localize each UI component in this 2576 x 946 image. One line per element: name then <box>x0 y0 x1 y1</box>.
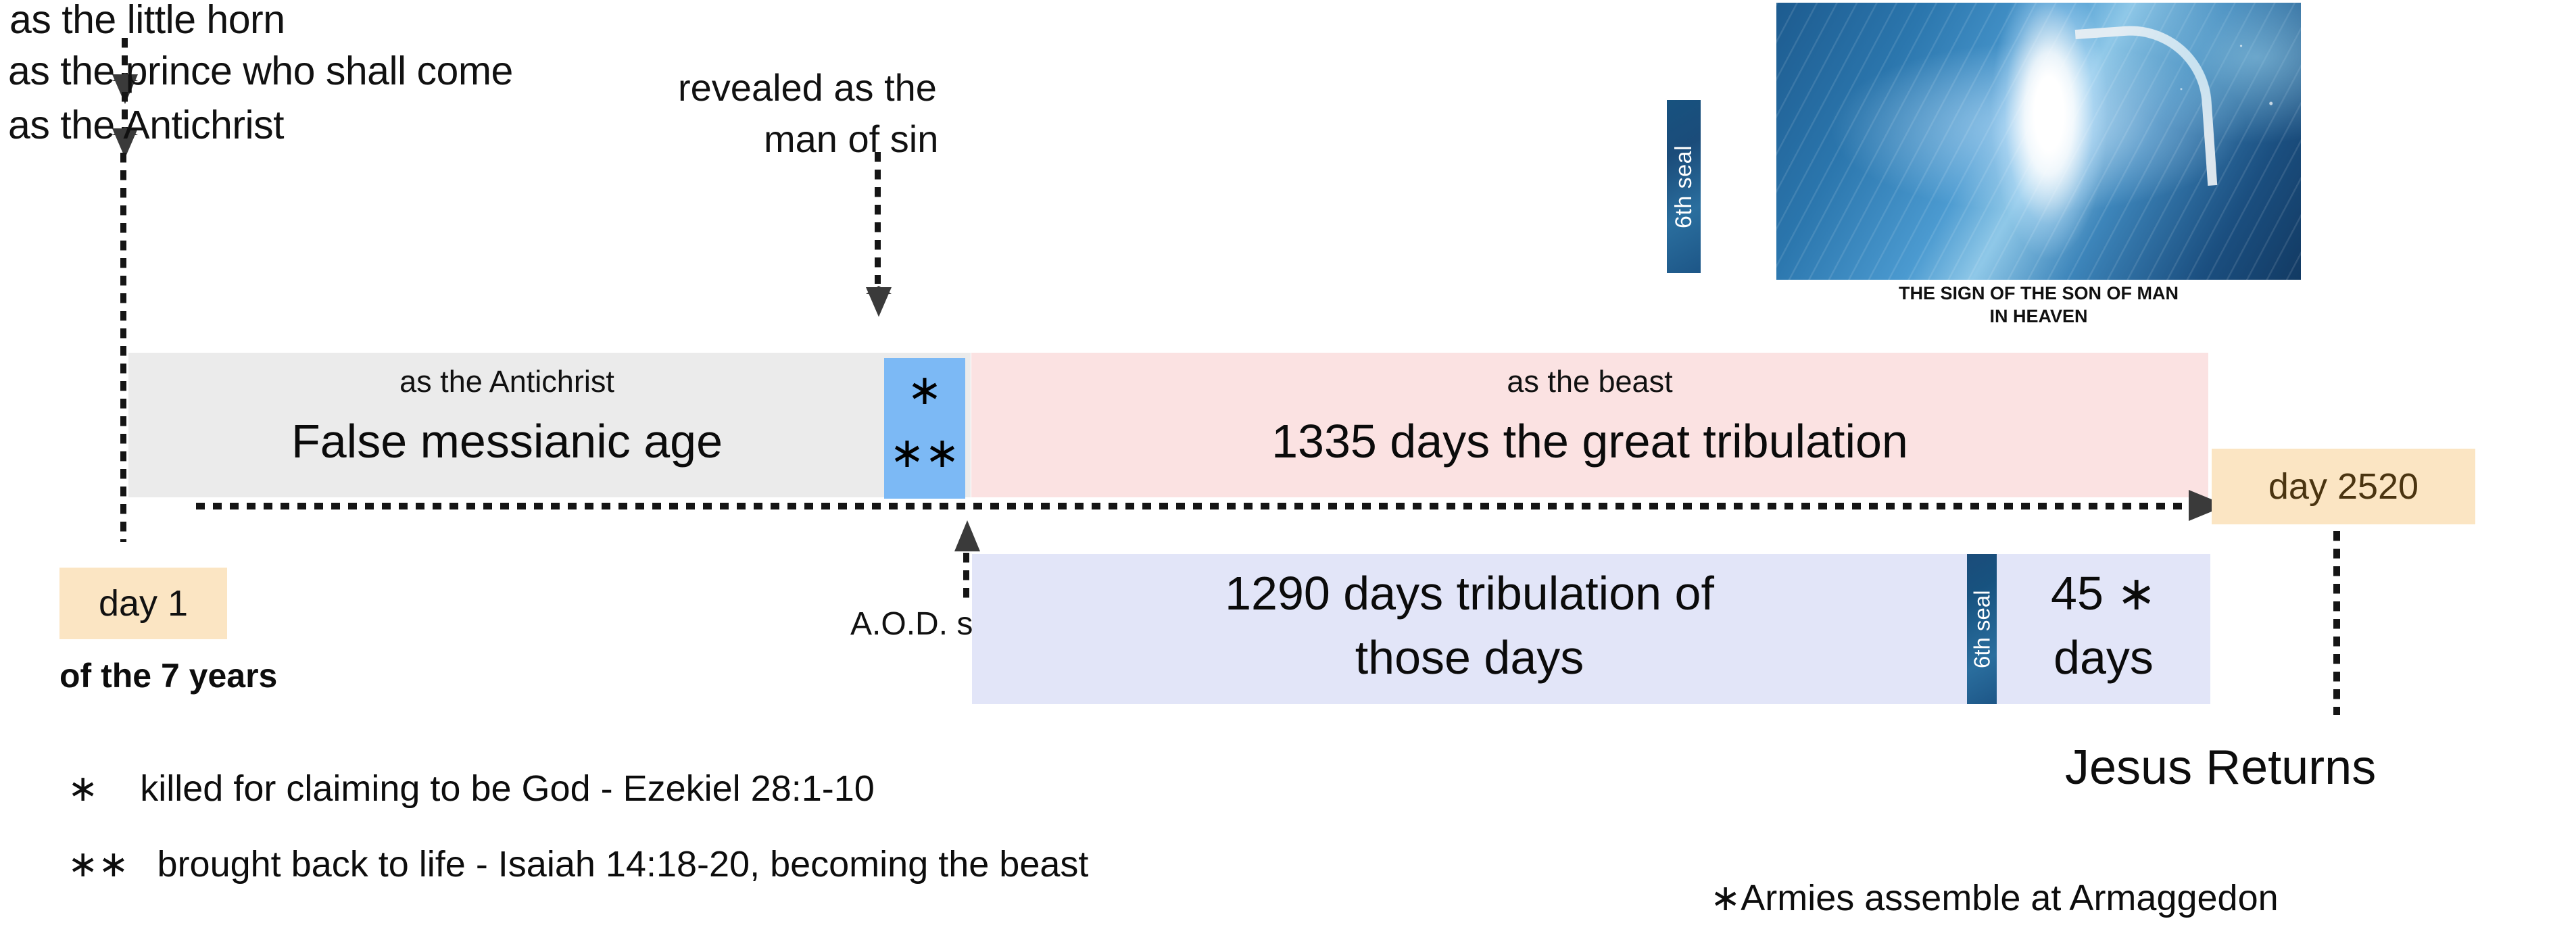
armageddon-note: ∗Armies assemble at Armaggedon <box>1710 880 2279 916</box>
revealed-annotation-line1: revealed as the <box>678 69 937 107</box>
footnote-1: ∗ killed for claiming to be God - Ezekie… <box>68 770 875 807</box>
cascade-label-little-horn: as the little horn <box>9 0 285 40</box>
segment-mainlabel-great-tribulation: 1335 days the great tribulation <box>971 418 2208 465</box>
revealed-annotation-line2: man of sin <box>764 120 938 158</box>
timeline-axis-dotted <box>196 503 2198 509</box>
segment-toplabel-beast: as the beast <box>971 366 2208 397</box>
cascade-label-prince: as the prince who shall come <box>8 51 513 91</box>
footnote-2-text: brought back to life - Isaiah 14:18-20, … <box>157 844 1089 885</box>
seal-image-caption-line1: THE SIGN OF THE SON OF MAN <box>1776 282 2301 305</box>
day-2520-badge[interactable]: day 2520 <box>2212 449 2475 524</box>
day-1-badge[interactable]: day 1 <box>59 568 227 639</box>
jesus-returns-label: Jesus Returns <box>2065 743 2376 792</box>
footnote-2-mark: ∗∗ <box>68 844 129 885</box>
sign-of-son-of-man-image <box>1776 3 2301 280</box>
start-vertical-guide <box>120 153 126 542</box>
revealed-connector <box>875 152 881 284</box>
segment-mainlabel-1290-line1: 1290 days tribulation of <box>972 570 1967 617</box>
sickle-glyph-icon <box>2075 20 2218 194</box>
segment-mainlabel-1290-line2: those days <box>972 634 1967 681</box>
sixth-seal-marker-label: 6th seal <box>1967 554 1997 704</box>
seal-image-tab-label: 6th seal <box>1667 100 1701 273</box>
seal-image-caption-line2: IN HEAVEN <box>1776 305 2301 328</box>
cascade-label-antichrist: as the Antichrist <box>8 105 284 145</box>
of-the-7-years-label: of the 7 years <box>59 659 277 693</box>
segment-mark-resurrected: ∗∗ <box>884 432 965 474</box>
segment-mark-killed: ∗ <box>884 370 965 412</box>
aod-arrow-icon <box>954 520 980 551</box>
revealed-arrow-icon <box>866 287 892 317</box>
footnote-1-text: killed for claiming to be God - Ezekiel … <box>140 768 875 809</box>
aod-connector <box>963 553 969 601</box>
segment-45days-line1: 45 ∗ <box>1997 570 2210 617</box>
segment-toplabel-antichrist: as the Antichrist <box>128 366 885 397</box>
footnote-1-mark: ∗ <box>68 768 98 809</box>
jesus-returns-guide <box>2333 531 2340 715</box>
segment-mainlabel-false-messianic-age: False messianic age <box>128 418 885 465</box>
segment-45days-line2: days <box>1997 634 2210 681</box>
footnote-2: ∗∗ brought back to life - Isaiah 14:18-2… <box>68 846 1088 882</box>
